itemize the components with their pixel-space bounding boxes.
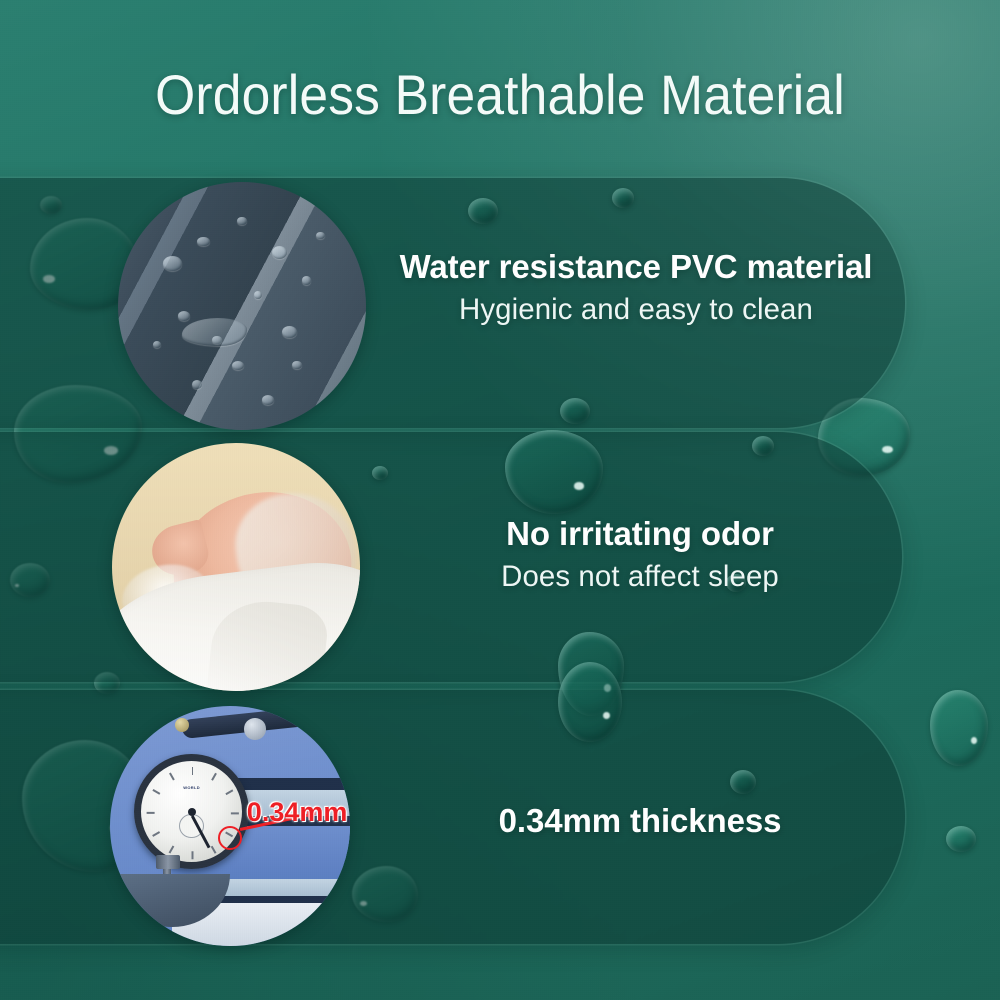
- thickness-callout-label: 0.34mm: [247, 797, 348, 828]
- pvc-fabric-water-droplets-photo: [118, 182, 366, 430]
- measurement-highlight-ring: [218, 826, 242, 850]
- feature-subline: Does not affect sleep: [395, 560, 885, 594]
- feature-headline: No irritating odor: [390, 515, 890, 553]
- feature-headline: 0.34mm thickness: [400, 802, 880, 840]
- product-feature-infographic: Ordorless Breathable Material Water resi…: [0, 0, 1000, 1000]
- gauge-arm-knob: [244, 718, 266, 740]
- dial-indicator: WORLD: [134, 754, 249, 869]
- feature-subline: Hygienic and easy to clean: [371, 293, 900, 327]
- gauge-stem-collar: [156, 855, 180, 869]
- feature-text-2: No irritating odor Does not affect sleep: [390, 515, 890, 594]
- feature-headline: Water resistance PVC material: [366, 248, 906, 286]
- page-title: Ordorless Breathable Material: [40, 62, 960, 127]
- person-sleeping-on-pillow-photo: [112, 443, 360, 691]
- water-droplet: [946, 826, 976, 852]
- water-droplet: [930, 690, 988, 766]
- feature-text-3: 0.34mm thickness: [400, 802, 880, 840]
- dial-brand-label: WORLD: [183, 785, 200, 790]
- thickness-gauge-photo: WORLD 0.34mm: [110, 706, 350, 946]
- feature-text-1: Water resistance PVC material Hygienic a…: [366, 248, 906, 327]
- dial-hub: [188, 808, 196, 816]
- droplet-streak: [182, 318, 246, 345]
